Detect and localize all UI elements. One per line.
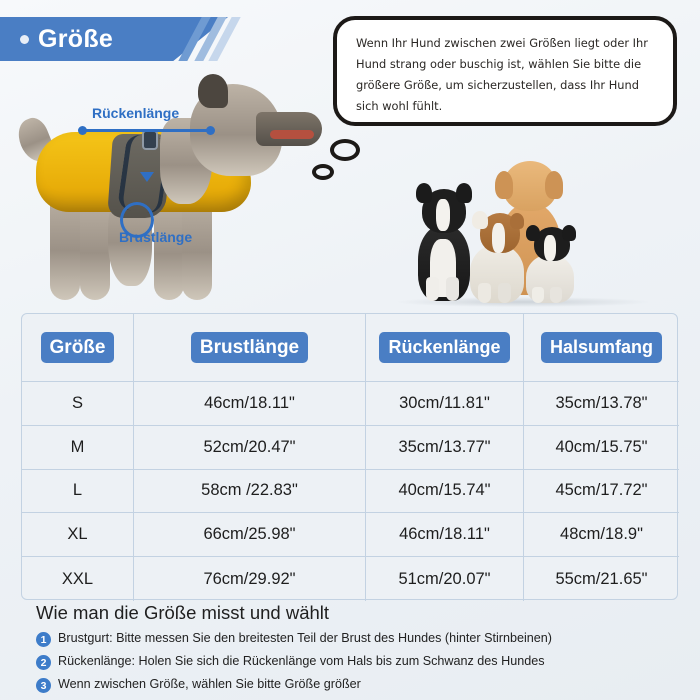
header-chip-neck: Halsumfang xyxy=(541,332,662,363)
table-row: 48cm/18.9" xyxy=(524,513,679,557)
back-length-end-dot-icon xyxy=(206,126,215,135)
table-row: 35cm/13.77" xyxy=(366,426,524,470)
page-header-banner: Größe xyxy=(0,17,300,61)
speech-bubble-tail-small xyxy=(312,164,334,180)
collie-leg-right xyxy=(446,277,459,301)
back-length-measure-line xyxy=(84,129,210,132)
dog-front-leg-far xyxy=(154,198,184,300)
golden-ear-left xyxy=(495,171,513,199)
puppy-ear-right xyxy=(562,225,576,241)
list-item: 2 Rückenlänge: Holen Sie sich die Rücken… xyxy=(36,654,676,670)
jack-leg-right xyxy=(498,283,511,303)
back-length-label: Rückenlänge xyxy=(92,105,179,121)
puppy-leg-right xyxy=(550,287,562,303)
table-row: 52cm/20.47" xyxy=(134,426,366,470)
speech-bubble-tail-large xyxy=(330,139,360,161)
table-row: 46cm/18.11" xyxy=(134,382,366,426)
table-row: 55cm/21.65" xyxy=(524,557,679,601)
table-row: XXL xyxy=(22,557,134,601)
puppy-leg-left xyxy=(532,287,544,303)
jack-ear-left xyxy=(472,211,488,229)
table-row: 66cm/25.98" xyxy=(134,513,366,557)
jack-face-blaze xyxy=(492,223,505,253)
table-row: 40cm/15.74" xyxy=(366,470,524,514)
step-number-badge-2: 2 xyxy=(36,655,51,670)
list-item: 3 Wenn zwischen Größe, wählen Sie bitte … xyxy=(36,677,676,693)
size-chart-table: Größe Brustlänge Rückenlänge Halsumfang … xyxy=(21,313,678,600)
page-title: Größe xyxy=(38,27,113,52)
table-row: 51cm/20.07" xyxy=(366,557,524,601)
dog-harness-buckle xyxy=(142,130,158,150)
bullet-dot-icon xyxy=(20,35,29,44)
chest-length-label: Brustlänge xyxy=(119,229,192,245)
table-row: 76cm/29.92" xyxy=(134,557,366,601)
table-row: 30cm/11.81" xyxy=(366,382,524,426)
step-text-1: Brustgurt: Bitte messen Sie den breitest… xyxy=(58,631,552,646)
step-number-badge-3: 3 xyxy=(36,678,51,693)
table-row: M xyxy=(22,426,134,470)
dog-mouth xyxy=(270,130,314,139)
list-item: 1 Brustgurt: Bitte messen Sie den breite… xyxy=(36,631,676,647)
dog-snout xyxy=(256,112,322,146)
how-to-title: Wie man die Größe misst und wählt xyxy=(36,602,676,624)
step-text-2: Rückenlänge: Holen Sie sich die Rückenlä… xyxy=(58,654,545,669)
table-row: 46cm/18.11" xyxy=(366,513,524,557)
step-number-badge-1: 1 xyxy=(36,632,51,647)
photo-dog-terrier-puppy xyxy=(518,225,582,303)
golden-ear-right xyxy=(545,171,563,199)
table-row: 45cm/17.72" xyxy=(524,470,679,514)
jack-leg-left xyxy=(478,283,491,303)
chest-length-arrow-icon xyxy=(140,172,154,182)
table-header-chest: Brustlänge xyxy=(134,314,366,382)
table-row: 40cm/15.75" xyxy=(524,426,679,470)
puppy-ear-left xyxy=(526,225,540,241)
table-header-back: Rückenlänge xyxy=(366,314,524,382)
advice-text: Wenn Ihr Hund zwischen zwei Größen liegt… xyxy=(356,33,656,117)
table-row: 35cm/13.78" xyxy=(524,382,679,426)
back-length-start-dot-icon xyxy=(78,126,87,135)
how-to-measure-section: Wie man die Größe misst und wählt 1 Brus… xyxy=(36,602,676,700)
dog-ear xyxy=(198,74,228,108)
collie-leg-left xyxy=(426,277,439,301)
header-chip-chest: Brustlänge xyxy=(191,332,308,364)
table-row: 58cm /22.83" xyxy=(134,470,366,514)
header-chip-size: Größe xyxy=(41,332,115,364)
dogs-group-photo xyxy=(388,148,678,303)
collie-ear-right xyxy=(456,183,472,203)
table-row: L xyxy=(22,470,134,514)
puppy-face-blaze xyxy=(544,235,556,261)
table-header-neck: Halsumfang xyxy=(524,314,679,382)
header-chip-back: Rückenlänge xyxy=(379,332,509,363)
collie-face-blaze xyxy=(436,199,450,231)
step-text-3: Wenn zwischen Größe, wählen Sie bitte Gr… xyxy=(58,677,361,692)
table-header-size: Größe xyxy=(22,314,134,382)
table-row: S xyxy=(22,382,134,426)
table-row: XL xyxy=(22,513,134,557)
collie-ear-left xyxy=(416,183,432,203)
dog-measurement-illustration: Rückenlänge Brustlänge xyxy=(14,74,314,309)
advice-speech-bubble: Wenn Ihr Hund zwischen zwei Größen liegt… xyxy=(333,16,677,126)
